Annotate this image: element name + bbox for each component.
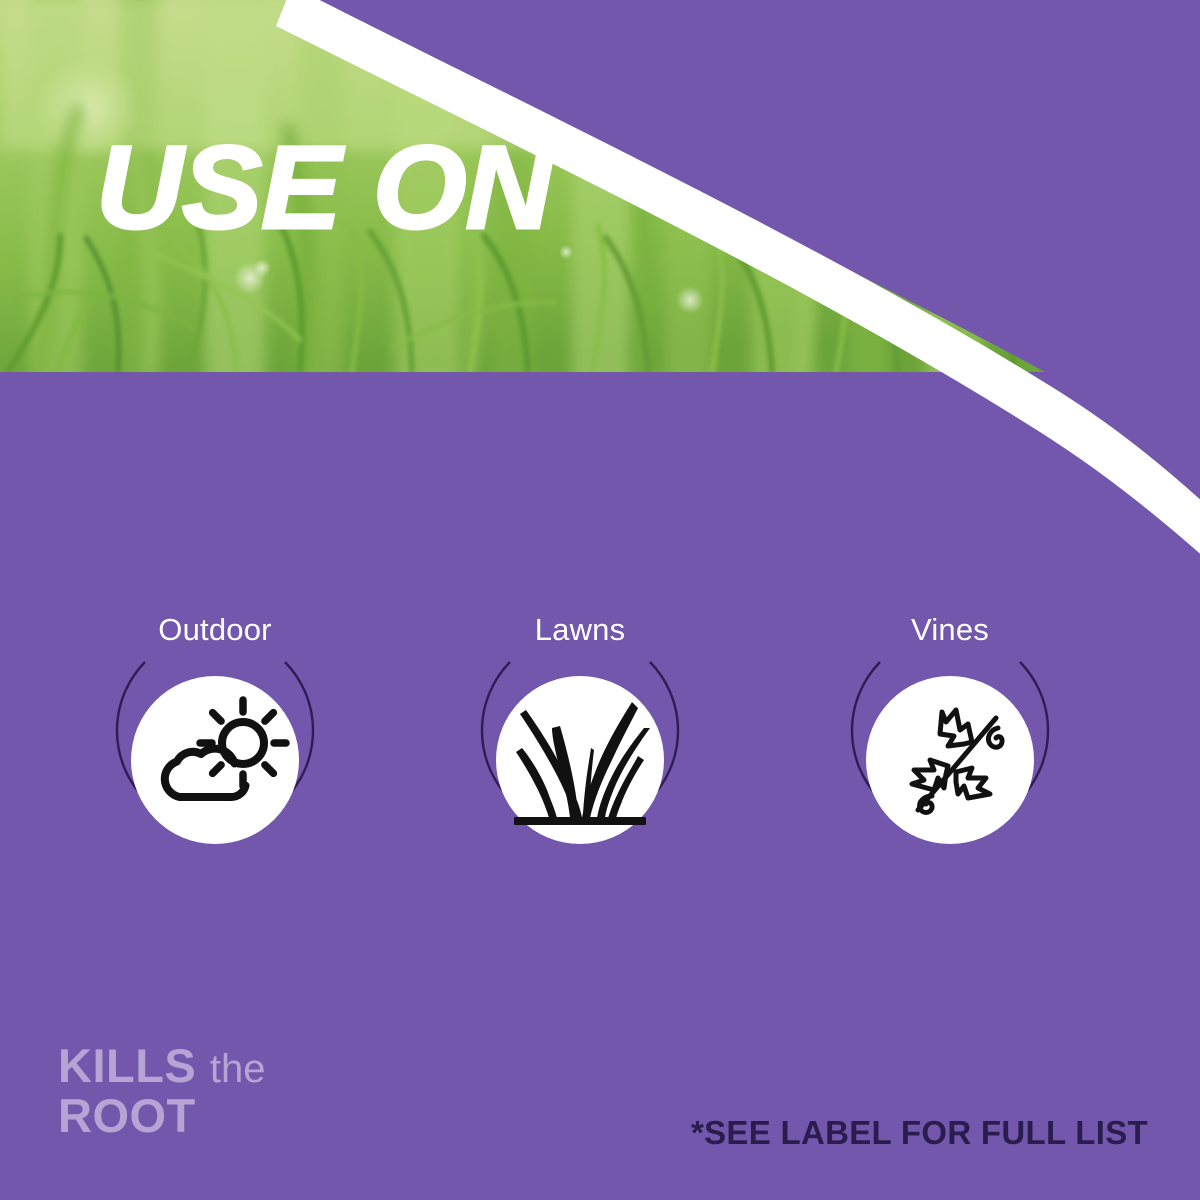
outdoor-circle-fill <box>131 676 299 844</box>
hero-banner: USE ON <box>0 0 1200 600</box>
vines-icon-badge <box>830 638 1070 878</box>
vines-circle-fill <box>866 676 1034 844</box>
use-on-item-lawns[interactable]: Lawns <box>430 612 730 892</box>
use-on-item-outdoor[interactable]: Outdoor <box>65 612 365 892</box>
claim-line-2: ROOT <box>58 1091 265 1142</box>
claim-the: the <box>210 1047 266 1091</box>
outdoor-icon-badge <box>95 638 335 878</box>
page-title: USE ON <box>96 129 551 247</box>
claim-kills: KILLS <box>58 1039 196 1092</box>
hero-graphic <box>0 0 1200 600</box>
use-on-icon-row: Outdoor <box>0 612 1200 892</box>
use-on-item-label: Outdoor <box>65 612 365 648</box>
see-label-disclaimer: *SEE LABEL FOR FULL LIST <box>691 1114 1148 1152</box>
lawns-icon-badge <box>460 638 700 878</box>
use-on-item-label: Vines <box>800 612 1100 648</box>
use-on-item-vines[interactable]: Vines <box>800 612 1100 892</box>
claim-line-1: KILLS the <box>58 1041 265 1092</box>
use-on-poster: USE ON Outdoor <box>0 0 1200 1200</box>
use-on-item-label: Lawns <box>430 612 730 648</box>
kills-the-root-claim: KILLS the ROOT <box>58 1041 265 1143</box>
